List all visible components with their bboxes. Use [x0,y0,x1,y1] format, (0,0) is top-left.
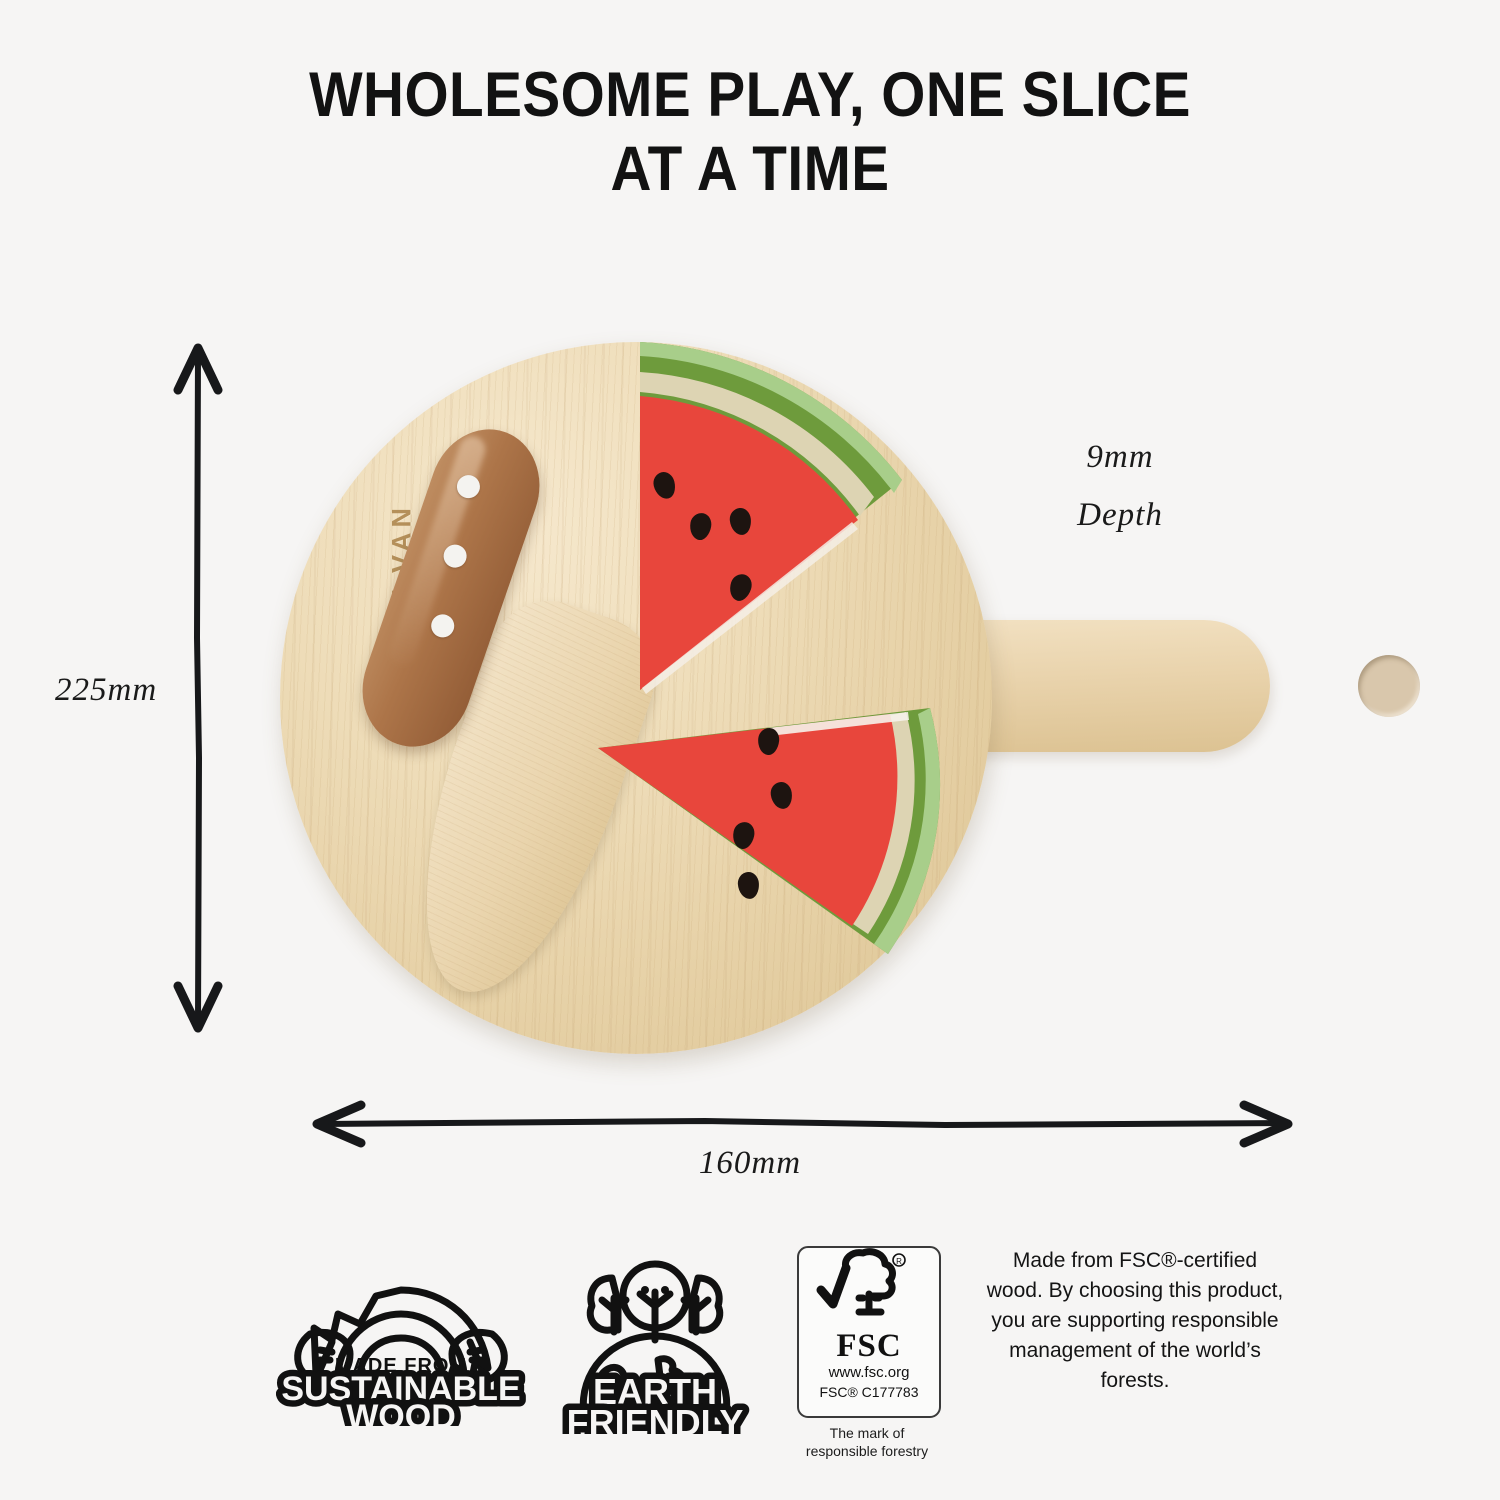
width-dimension-arrow [305,1096,1300,1152]
fsc-license-code: FSC® C177783 [799,1382,939,1403]
fsc-caption-line2: responsible forestry [772,1442,962,1460]
fsc-tree-checkmark-icon: R [799,1248,939,1322]
sustainable-wood-badge: MADE FROM SUSTAINABLE SUSTAINABLE WOOD W… [276,1256,526,1431]
fsc-wordmark: FSC [799,1329,939,1363]
sustainable-badge-line3: WOOD WOOD [346,1398,456,1426]
height-dimension-arrow [168,338,228,1038]
earth-friendly-line2: FRIENDLY FRIENDLY [567,1402,744,1434]
knife-rivet [428,611,457,640]
fsc-caption: The mark of responsible forestry [772,1424,962,1460]
product-marketing-image: WHOLESOME PLAY, ONE SLICE AT A TIME 225m… [0,0,1500,1500]
title-line-1: WHOLESOME PLAY, ONE SLICE [75,58,1425,132]
fsc-url: www.fsc.org [799,1363,939,1382]
title-line-2: AT A TIME [75,132,1425,206]
svg-text:R: R [896,1257,902,1266]
svg-text:FRIENDLY: FRIENDLY [567,1402,744,1434]
certification-badges: MADE FROM SUSTAINABLE SUSTAINABLE WOOD W… [0,1238,1500,1448]
fsc-description-text: Made from FSC®-certified wood. By choosi… [985,1246,1285,1396]
knife-rivet [454,472,483,501]
earth-friendly-badge: EARTH EARTH FRIENDLY FRIENDLY [560,1244,750,1439]
page-title: WHOLESOME PLAY, ONE SLICE AT A TIME [0,58,1500,206]
width-dimension-label: 160mm [0,1145,1500,1182]
knife-rivet [440,541,469,570]
fsc-logo-box: R FSC www.fsc.org FSC® C177783 [797,1246,941,1418]
svg-text:WOOD: WOOD [346,1398,456,1426]
fsc-caption-line1: The mark of [772,1424,962,1442]
height-dimension-label: 225mm [55,672,157,709]
watermelon-slice-lower [588,672,988,972]
product-photo: LE TOY VAN [250,300,1370,1100]
watermelon-slice-upper [602,330,932,700]
hanging-hole [1358,655,1420,717]
